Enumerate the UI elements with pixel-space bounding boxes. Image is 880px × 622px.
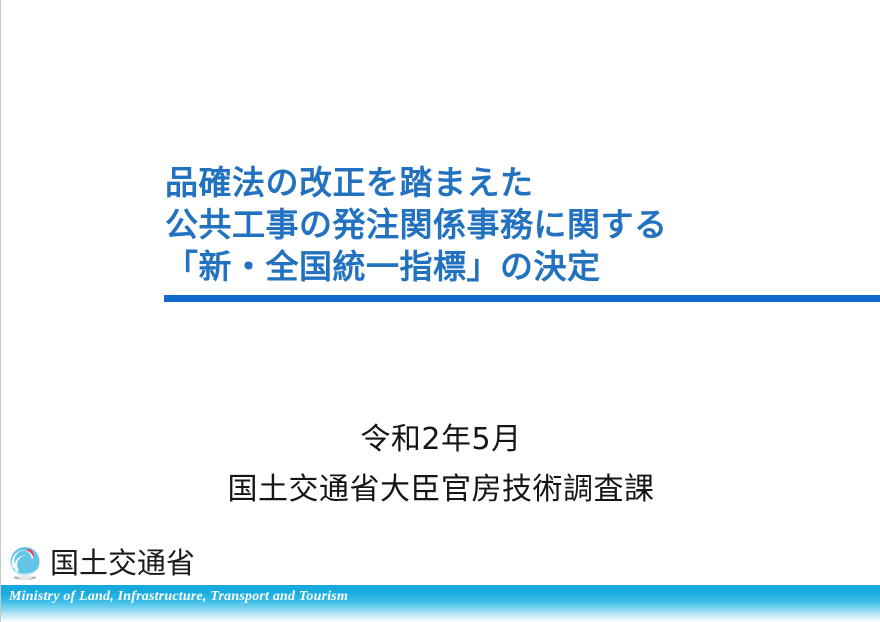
mlit-swirl-logo-icon — [7, 545, 43, 581]
title-underline-divider — [164, 295, 880, 302]
subtitle-date: 令和2年5月 — [1, 415, 880, 465]
title-line-1: 品確法の改正を踏まえた — [165, 162, 880, 204]
slide-subtitle: 令和2年5月 国土交通省大臣官房技術調査課 — [1, 415, 880, 515]
presentation-slide: 品確法の改正を踏まえた 公共工事の発注関係事務に関する 「新・全国統一指標」の決… — [0, 0, 880, 622]
slide-title: 品確法の改正を踏まえた 公共工事の発注関係事務に関する 「新・全国統一指標」の決… — [165, 162, 880, 288]
footer-brand: 国土交通省 — [7, 541, 195, 585]
title-line-2: 公共工事の発注関係事務に関する — [165, 204, 880, 246]
footer-ministry-name-en: Ministry of Land, Infrastructure, Transp… — [9, 589, 348, 605]
title-line-3: 「新・全国統一指標」の決定 — [165, 246, 880, 288]
footer-ministry-name-ja: 国土交通省 — [50, 549, 195, 578]
footer-gradient-band: Ministry of Land, Infrastructure, Transp… — [1, 585, 880, 622]
subtitle-organization: 国土交通省大臣官房技術調査課 — [1, 465, 880, 515]
